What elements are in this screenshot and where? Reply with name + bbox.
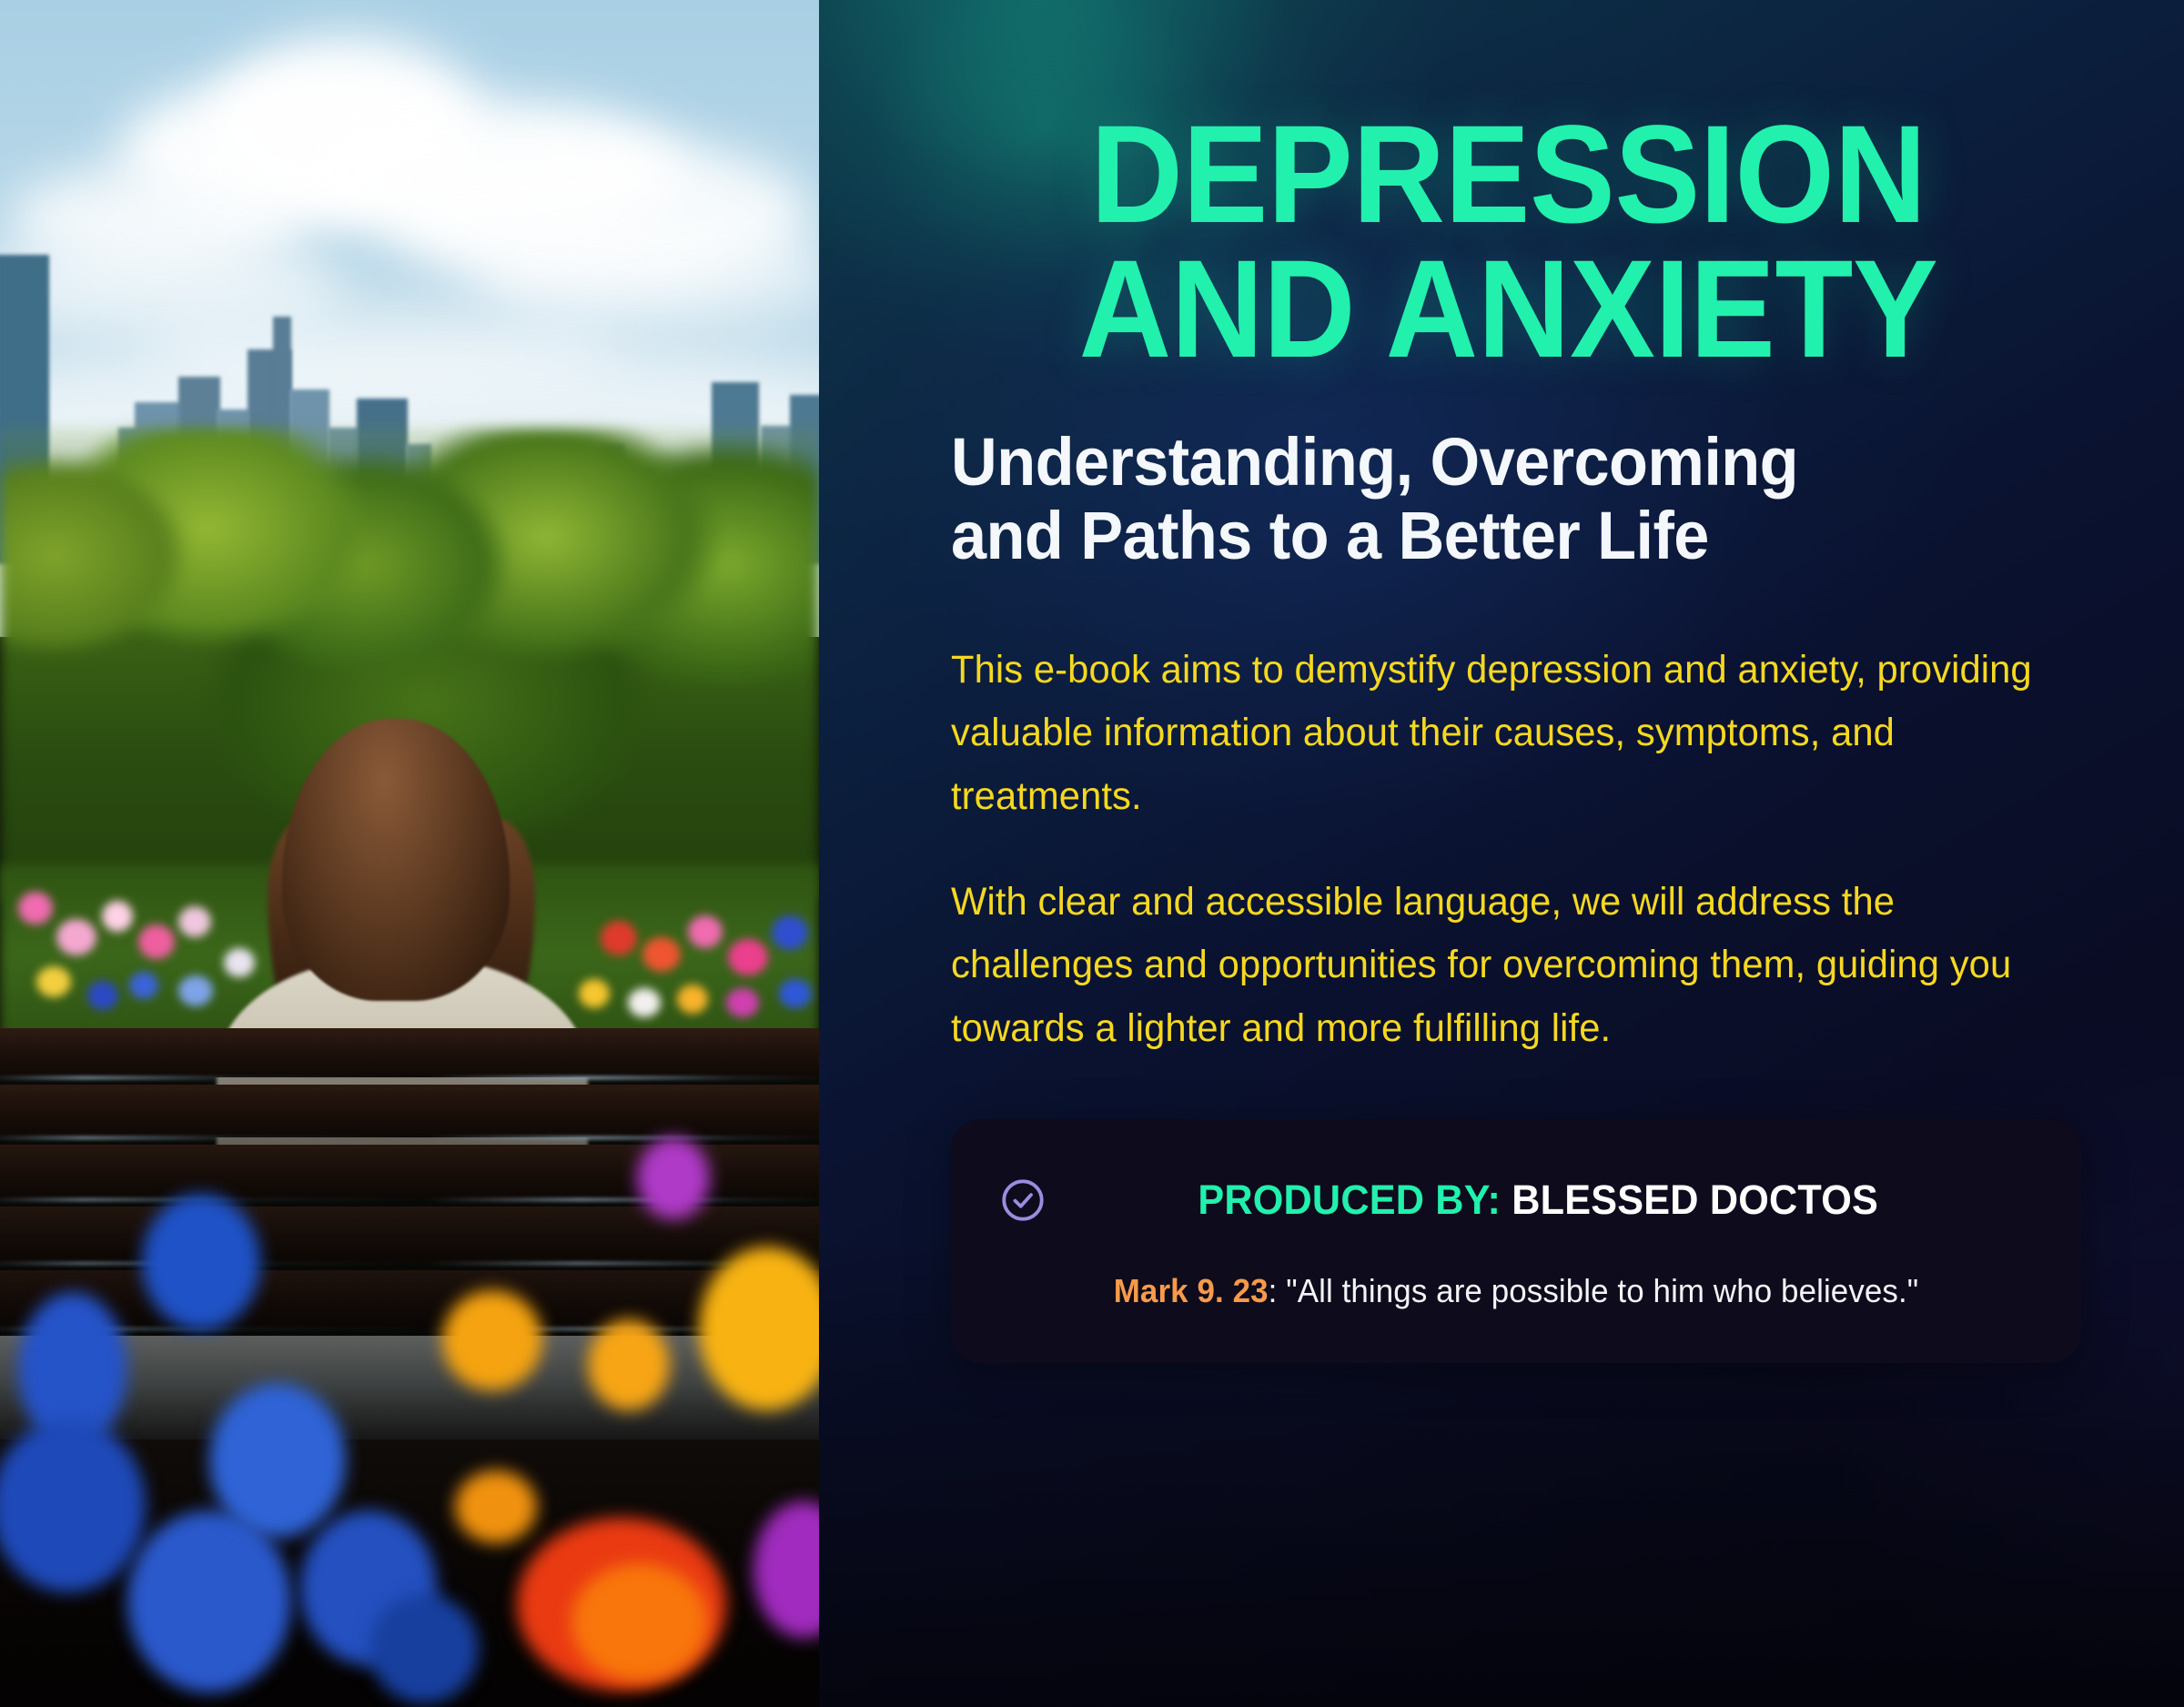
flower-blossom [728,939,768,975]
bible-verse: Mark 9. 23: "All things are possible to … [968,1225,2065,1363]
flower-blossom [688,915,723,948]
check-circle-icon [998,1176,1047,1225]
producer-card: PRODUCED BY: BLESSED DOCTOS Mark 9. 23: … [951,1119,2081,1363]
page-title: DEPRESSION AND ANXIETY [996,0,2021,378]
foreground-flower [588,1319,670,1410]
verse-text: "All things are possible to him who beli… [1286,1272,1918,1309]
foreground-flower [127,1510,291,1692]
flower-blossom [56,919,96,955]
description-paragraph-2: With clear and accessible language, we w… [951,871,2032,1061]
producer-credit: PRODUCED BY: BLESSED DOCTOS [1068,1177,2061,1224]
foreground-flower [571,1563,708,1682]
page-subtitle: Understanding, Overcoming and Paths to a… [951,425,2010,573]
verse-reference: Mark 9. 23 [1114,1272,1269,1309]
cover-content-panel: DEPRESSION AND ANXIETY Understanding, Ov… [819,0,2184,1707]
flower-blossom [178,975,213,1006]
hair [282,719,510,1001]
flower-blossom [18,892,53,924]
foreground-flower [209,1383,346,1538]
verse-separator: : [1269,1272,1287,1309]
foreground-flower [142,1194,260,1330]
flower-blossom [601,921,637,955]
flower-blossom [129,972,158,999]
producer-row: PRODUCED BY: BLESSED DOCTOS [951,1119,2081,1225]
flower-blossom [779,979,812,1008]
flower-blossom [178,906,211,937]
foreground-flower [442,1290,542,1390]
ebook-cover: DEPRESSION AND ANXIETY Understanding, Ov… [0,0,2184,1707]
flower-blossom [87,981,118,1010]
foreground-flower [369,1594,479,1703]
flower-blossom [642,937,681,972]
flower-blossom [726,988,759,1017]
flower-blossom [138,924,175,959]
flower-blossom [102,901,133,932]
flower-blossom [36,966,71,997]
producer-name: BLESSED DOCTOS [1512,1177,1878,1223]
flower-blossom [772,915,808,950]
title-line-1: DEPRESSION [996,107,2021,242]
flower-blossom [677,985,708,1014]
subtitle-line-2: and Paths to a Better Life [951,499,2010,572]
producer-label: PRODUCED BY: [1198,1177,1501,1223]
foreground-flower [455,1470,537,1543]
title-line-2: AND ANXIETY [996,242,2021,377]
cover-photo [0,0,819,1707]
description-paragraph-1: This e-book aims to demystify depression… [951,639,2032,829]
flower-blossom [628,988,661,1017]
foreground-flower [637,1137,710,1219]
subtitle-line-1: Understanding, Overcoming [951,425,2010,499]
